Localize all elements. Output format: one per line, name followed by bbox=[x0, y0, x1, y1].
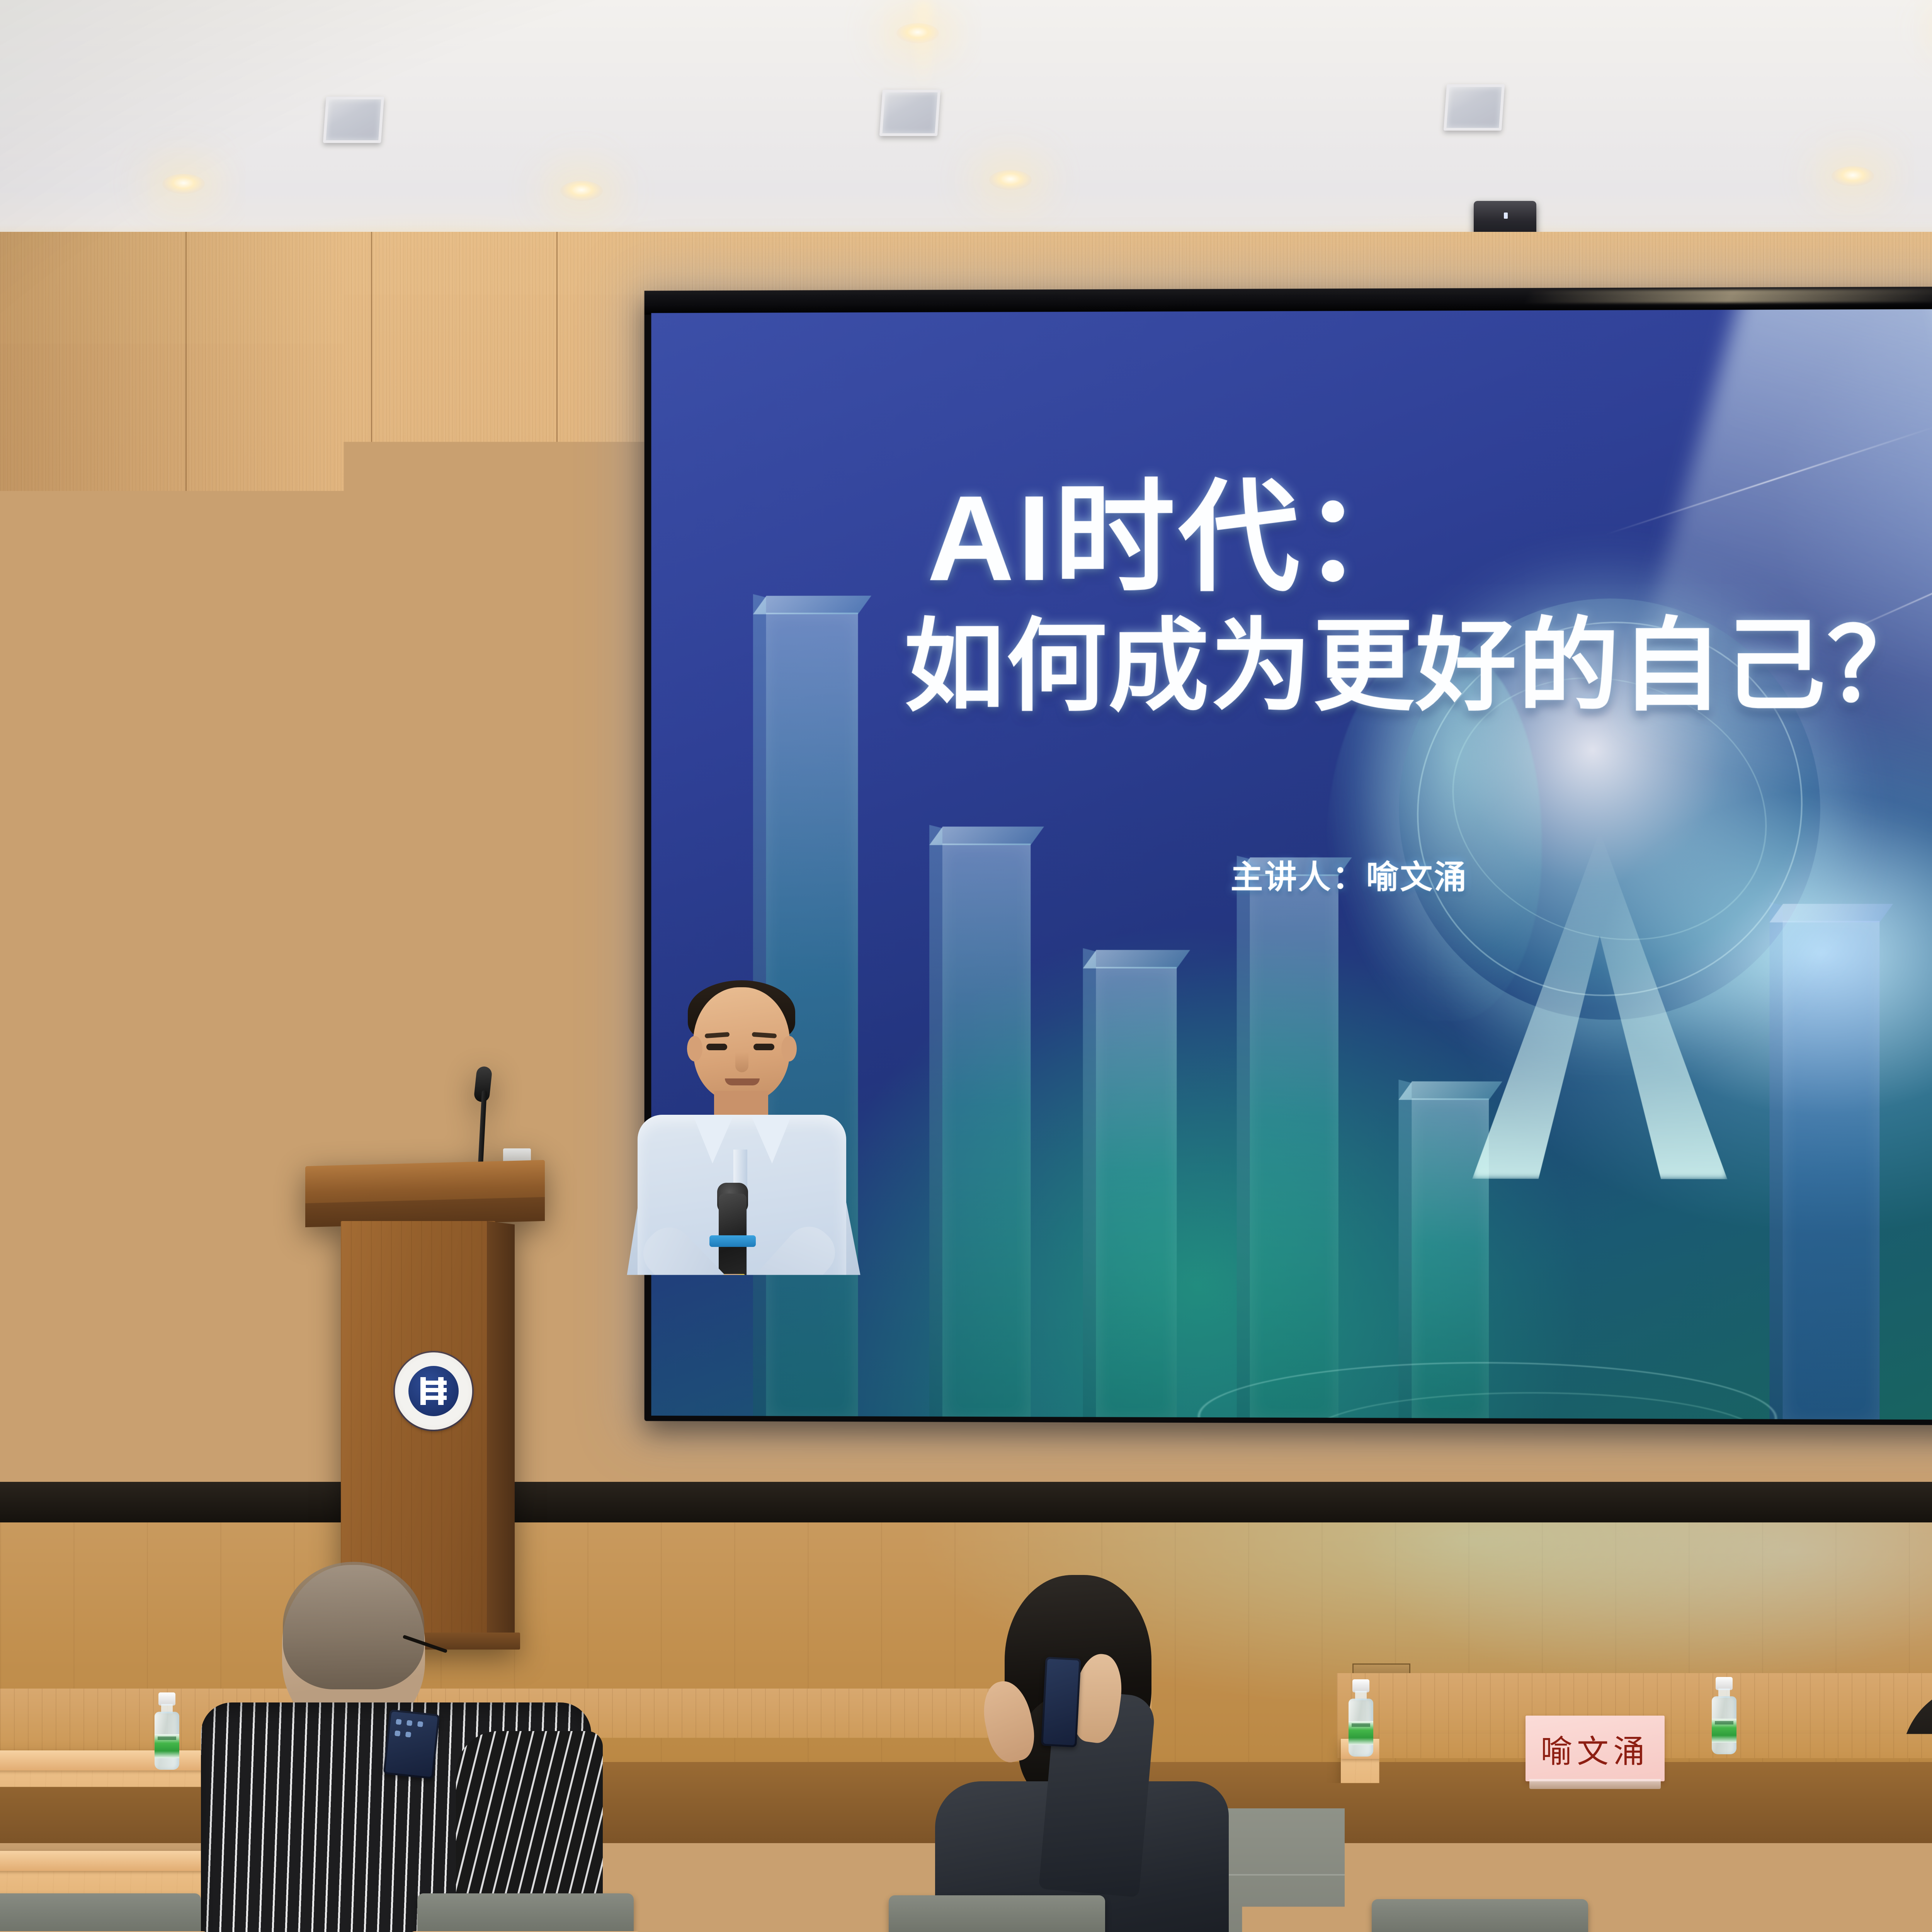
brand-logo-text: 尊一科技集团 ZUN1 TECHNOLOGY GROUP bbox=[912, 403, 1179, 460]
university-crest-icon bbox=[395, 1352, 472, 1430]
presenter-ear-left bbox=[687, 1036, 702, 1061]
wall-shadow-left bbox=[0, 232, 348, 1495]
wall-outlet bbox=[560, 1451, 582, 1469]
attendee-hair bbox=[283, 1562, 424, 1689]
attendee-left-phone[interactable] bbox=[383, 1709, 440, 1779]
ceiling-downlight bbox=[560, 181, 603, 201]
presenter-mouth bbox=[725, 1078, 760, 1085]
presenter bbox=[617, 987, 865, 1667]
attendee-center bbox=[927, 1565, 1376, 1932]
ceiling-downlight bbox=[989, 170, 1032, 190]
brand-name-cn: 尊一科技集团 bbox=[912, 403, 1179, 440]
phone-screen bbox=[1043, 1659, 1079, 1745]
chart-tower bbox=[1783, 921, 1880, 1421]
audience-chair[interactable] bbox=[889, 1895, 1105, 1932]
slide-title-line1: AI时代： bbox=[927, 477, 1427, 599]
bottle-label bbox=[155, 1734, 179, 1758]
presenter-hand-right bbox=[743, 1279, 791, 1329]
audience-chair[interactable] bbox=[0, 1893, 201, 1932]
presenter-nose bbox=[735, 1052, 748, 1072]
presenter-eye-left bbox=[706, 1044, 727, 1050]
ceiling-downlight bbox=[162, 174, 205, 194]
phone-screen bbox=[385, 1711, 438, 1777]
phone-app-icon bbox=[417, 1721, 423, 1727]
chair-back bbox=[889, 1895, 1105, 1932]
bottle-label bbox=[1712, 1719, 1736, 1743]
brand-name-en: ZUN1 TECHNOLOGY GROUP bbox=[912, 441, 1190, 460]
chair-back bbox=[0, 1893, 201, 1932]
desk-cable-grommet bbox=[1495, 1770, 1524, 1781]
water-bottle bbox=[155, 1692, 179, 1770]
brand-logo: 尊一科技集团 ZUN1 TECHNOLOGY GROUP bbox=[835, 393, 1179, 470]
wall-seam bbox=[556, 232, 558, 1495]
ceiling-vent bbox=[879, 90, 940, 136]
bottle-cap bbox=[158, 1692, 175, 1706]
presenter-belt-buckle bbox=[730, 1402, 760, 1424]
audience-chair[interactable] bbox=[1832, 1909, 1932, 1932]
crest-inner bbox=[408, 1366, 459, 1416]
chart-tower bbox=[1096, 967, 1177, 1421]
attendee-hair bbox=[1901, 1685, 1932, 1855]
downlight-streak bbox=[916, 0, 931, 93]
audience-chair[interactable] bbox=[1372, 1899, 1588, 1932]
phone-screen bbox=[1740, 1874, 1811, 1911]
ceiling-vent bbox=[323, 97, 384, 143]
chart-tower bbox=[942, 844, 1031, 1421]
bottle-cap bbox=[1716, 1677, 1733, 1690]
ceiling-vent bbox=[1444, 84, 1505, 131]
lecture-hall-photo: 尊一科技集团 ZUN1 TECHNOLOGY GROUP AI时代： 如何成为更… bbox=[0, 0, 1932, 1932]
name-placard: 喻文涌 bbox=[1526, 1716, 1665, 1781]
phone-app-icon bbox=[405, 1731, 411, 1737]
ceiling-downlight bbox=[896, 23, 939, 43]
ceiling bbox=[0, 0, 1932, 270]
chair-back bbox=[417, 1893, 634, 1932]
slide-speaker-label: 主讲人：喻文涌 bbox=[1231, 851, 1468, 898]
presenter-leg-split bbox=[732, 1470, 750, 1652]
desk-cable-grommet bbox=[131, 1793, 160, 1804]
phone-app-icon bbox=[395, 1730, 400, 1736]
attendee-center-phone[interactable] bbox=[1041, 1657, 1081, 1748]
name-placard-stand bbox=[1529, 1779, 1661, 1789]
phone-app-icon bbox=[406, 1720, 412, 1726]
slide-title-line2: 如何成为更好的自己？ bbox=[904, 615, 1930, 718]
attendee-right bbox=[1824, 1685, 1932, 1932]
name-placard-text: 喻文涌 bbox=[1541, 1726, 1650, 1772]
shirt-button bbox=[738, 1357, 744, 1363]
wall-speaker bbox=[209, 672, 249, 713]
chair-back bbox=[1832, 1909, 1932, 1932]
chart-tower bbox=[1250, 874, 1338, 1421]
wall-baseboard bbox=[0, 1482, 1932, 1528]
phone-on-desk bbox=[1738, 1872, 1813, 1913]
presenter-ear-right bbox=[781, 1036, 797, 1061]
ptz-status-led bbox=[1504, 213, 1508, 219]
chair-back bbox=[1372, 1899, 1588, 1932]
phone-app-icon bbox=[396, 1719, 401, 1725]
ceiling-downlight bbox=[1832, 166, 1874, 186]
presenter-eye-right bbox=[753, 1044, 774, 1050]
audience-chair[interactable] bbox=[417, 1893, 634, 1932]
zun1-g-monogram-icon bbox=[835, 393, 900, 470]
mic-color-band bbox=[709, 1235, 756, 1247]
water-bottle bbox=[1712, 1677, 1736, 1754]
